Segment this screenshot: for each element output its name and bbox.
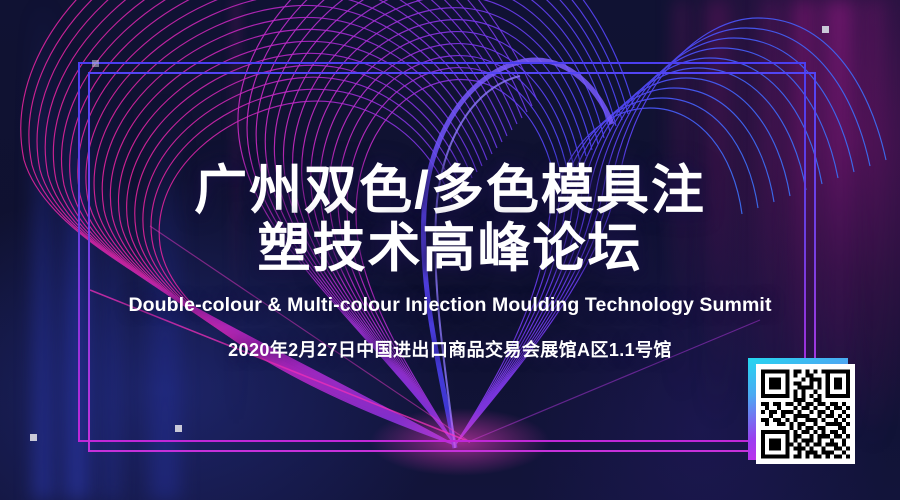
main-title: 广州双色/多色模具注 塑技术高峰论坛	[0, 162, 900, 278]
accent-dot	[175, 425, 182, 432]
qr-code-image[interactable]	[756, 364, 855, 464]
title-line-2: 塑技术高峰论坛	[0, 220, 900, 278]
english-subtitle: Double-colour & Multi-colour Injection M…	[0, 294, 900, 317]
qr-code-block[interactable]	[748, 358, 858, 470]
title-line-1: 广州双色/多色模具注	[0, 162, 900, 220]
accent-dot	[30, 434, 37, 441]
poster-canvas: 广州双色/多色模具注 塑技术高峰论坛 Double-colour & Multi…	[0, 0, 900, 500]
accent-dot	[822, 26, 829, 33]
accent-dot	[92, 60, 99, 67]
